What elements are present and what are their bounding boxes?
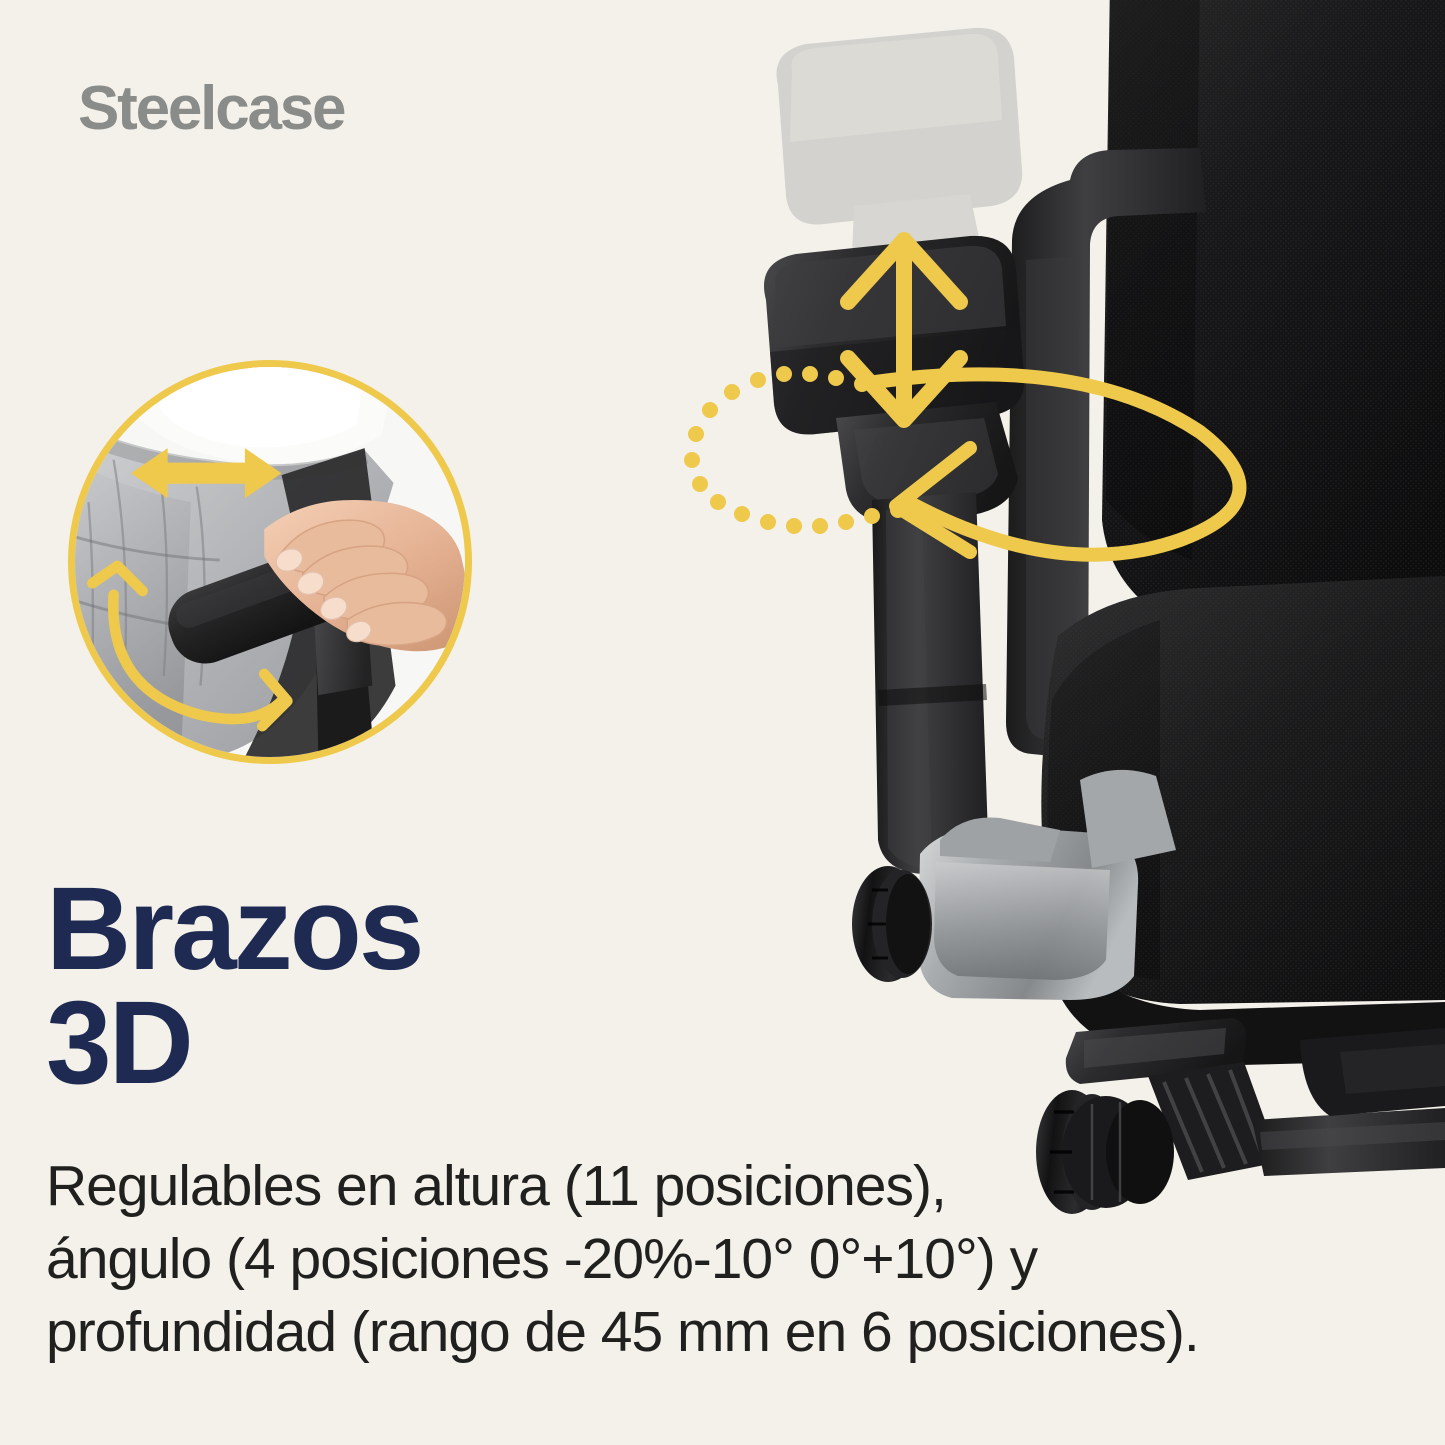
description-line-3: profundidad (rango de 45 mm en 6 posicio… [46, 1296, 1406, 1369]
chair-product-photo [640, 0, 1445, 1300]
seat-underside [1300, 1028, 1445, 1116]
inset-illustration [75, 367, 465, 757]
chair-illustration [640, 0, 1445, 1300]
description-text: Regulables en altura (11 posiciones), án… [46, 1150, 1406, 1369]
adjust-knob-upper [852, 866, 932, 982]
armrest-column [872, 492, 988, 874]
poster-canvas: Steelcase [0, 0, 1445, 1445]
steelcase-logo: Steelcase [78, 78, 344, 140]
backrest [1102, 0, 1445, 675]
description-line-2: ángulo (4 posiciones -20%-10° 0°+10°) y [46, 1223, 1406, 1296]
armrest-detail-inset [68, 360, 472, 764]
page-title: Brazos 3D [46, 872, 421, 1101]
description-line-1: Regulables en altura (11 posiciones), [46, 1150, 1406, 1223]
